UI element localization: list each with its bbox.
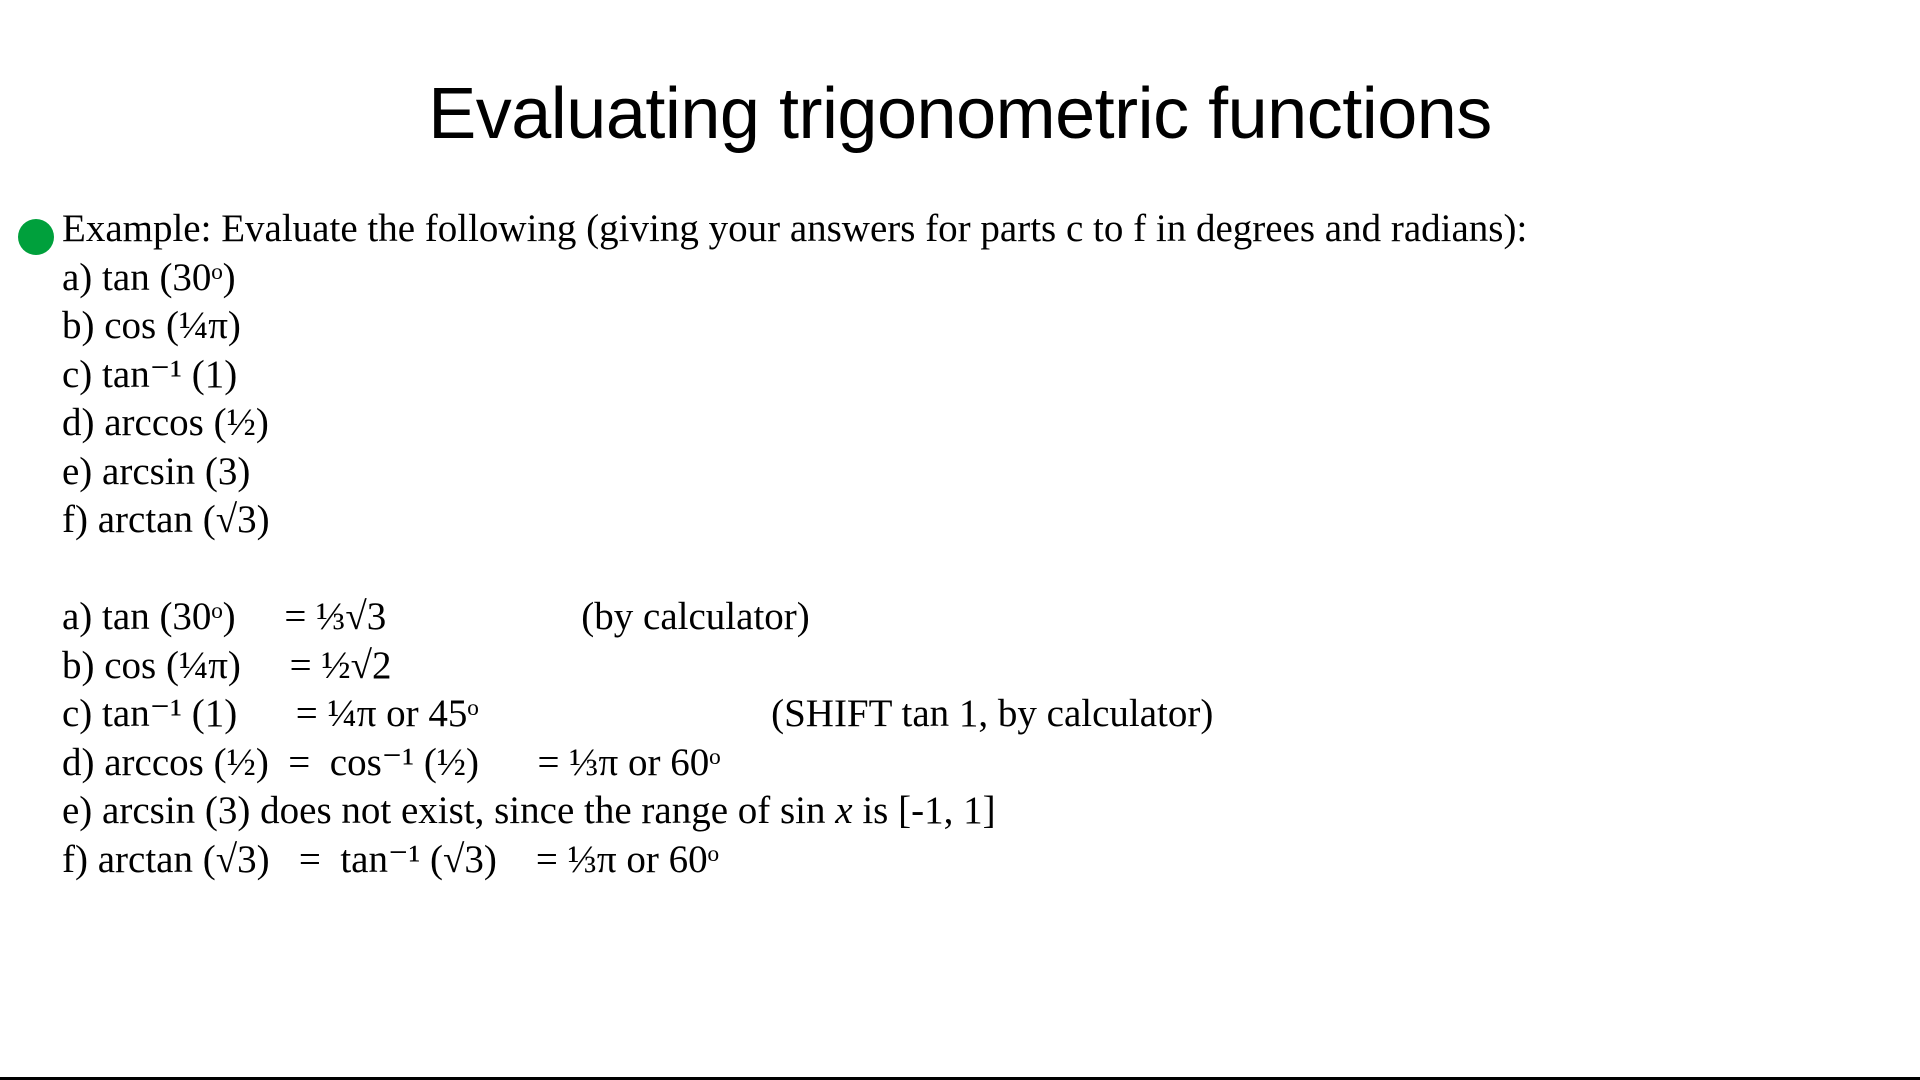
question-line-d: d) arccos (½) — [62, 399, 1898, 448]
answer-line-e-suffix: is [-1, 1] — [853, 789, 996, 832]
answer-line-c: c) tan⁻¹ (1) = ¼π or 45ᵒ (SHIFT tan 1, b… — [62, 690, 1898, 739]
intro-text: Example: Evaluate the following (giving … — [62, 205, 1898, 254]
answer-line-e-prefix: e) arcsin (3) does not exist, since the … — [62, 789, 835, 832]
blank-line — [62, 545, 1898, 594]
green-bullet-icon — [18, 219, 54, 255]
answer-line-b: b) cos (¼π) = ½√2 — [62, 642, 1898, 691]
answers-group: a) tan (30ᵒ) = ⅓√3 (by calculator) b) co… — [62, 593, 1898, 884]
answer-line-e: e) arcsin (3) does not exist, since the … — [62, 787, 1898, 836]
question-line-c: c) tan⁻¹ (1) — [62, 351, 1898, 400]
page-title: Evaluating trigonometric functions — [0, 78, 1920, 150]
answer-line-a: a) tan (30ᵒ) = ⅓√3 (by calculator) — [62, 593, 1898, 642]
bullet-content: Example: Evaluate the following (giving … — [62, 205, 1898, 884]
question-line-b: b) cos (¼π) — [62, 302, 1898, 351]
slide: Evaluating trigonometric functions Examp… — [0, 0, 1920, 1080]
slide-body: Example: Evaluate the following (giving … — [18, 205, 1898, 884]
answer-line-d: d) arccos (½) = cos⁻¹ (½) = ⅓π or 60ᵒ — [62, 739, 1898, 788]
question-line-a: a) tan (30ᵒ) — [62, 254, 1898, 303]
question-line-e: e) arcsin (3) — [62, 448, 1898, 497]
answer-line-e-variable: x — [835, 789, 852, 832]
bullet-list-item: Example: Evaluate the following (giving … — [18, 205, 1898, 884]
answer-line-f: f) arctan (√3) = tan⁻¹ (√3) = ⅓π or 60ᵒ — [62, 836, 1898, 885]
question-line-f: f) arctan (√3) — [62, 496, 1898, 545]
